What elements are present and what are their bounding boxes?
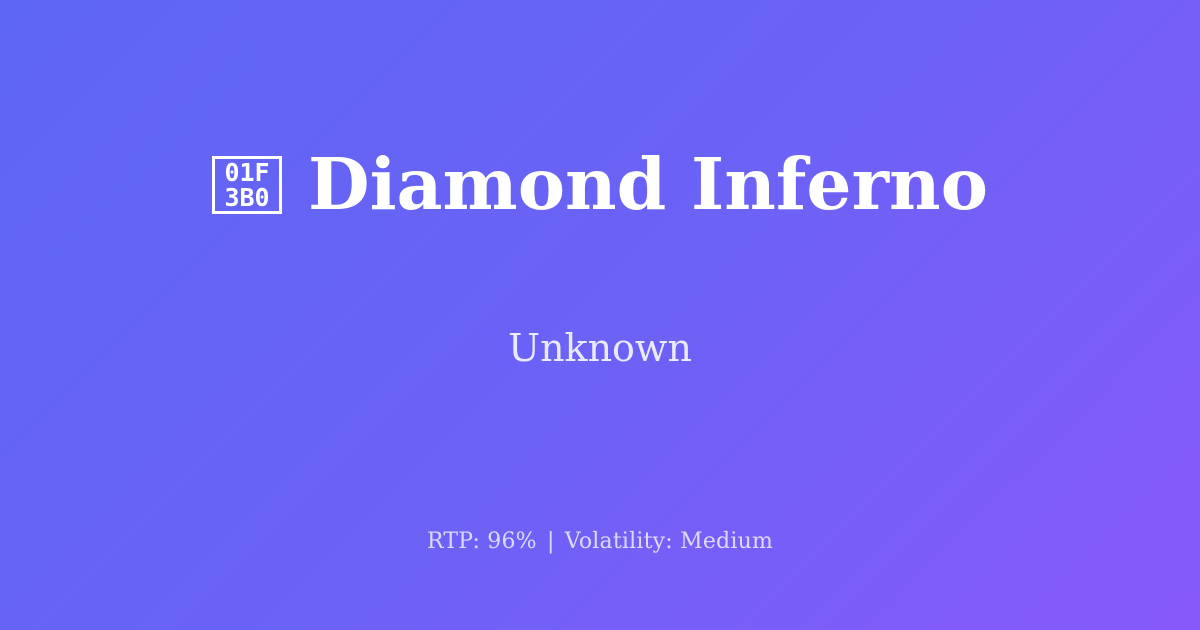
- rtp-value: 96%: [487, 529, 537, 554]
- volatility-label: Volatility:: [565, 529, 673, 554]
- rtp-label: RTP:: [427, 529, 480, 554]
- slot-machine-icon: 01F 3B0: [212, 156, 282, 214]
- game-provider-subtitle: Unknown: [508, 328, 692, 370]
- og-share-card: 01F 3B0 Diamond Inferno Unknown RTP: 96%…: [0, 0, 1200, 630]
- game-stats-line: RTP: 96% | Volatility: Medium: [0, 529, 1200, 555]
- page-title: Diamond Inferno: [308, 148, 988, 222]
- codepoint-top: 01F: [224, 160, 269, 185]
- stats-separator: |: [544, 529, 558, 554]
- volatility-value: Medium: [680, 529, 773, 554]
- title-row: 01F 3B0 Diamond Inferno: [212, 101, 988, 270]
- codepoint-bottom: 3B0: [224, 185, 269, 210]
- hero-block: 01F 3B0 Diamond Inferno Unknown: [0, 0, 1200, 470]
